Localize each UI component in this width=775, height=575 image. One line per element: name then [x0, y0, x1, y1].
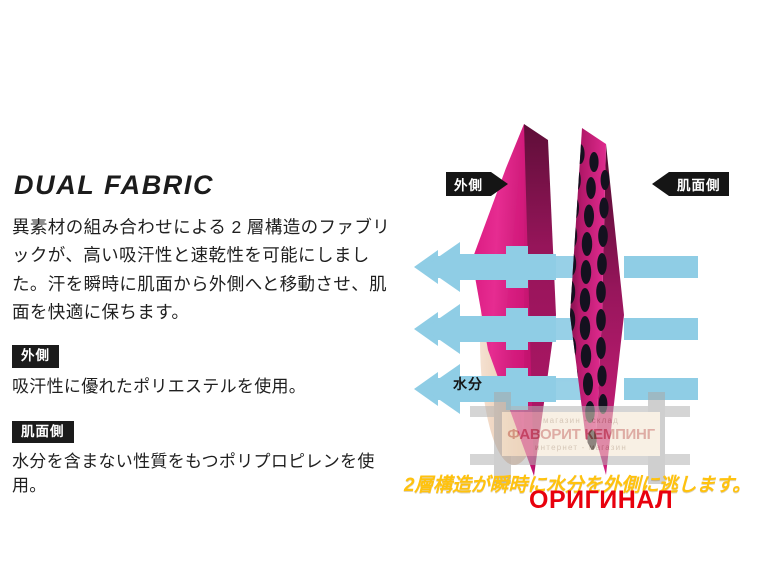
banner-skin-side: 肌面側 [652, 172, 729, 196]
banner-skin-label: 肌面側 [669, 172, 729, 196]
spec-skin-text: 水分を含まない性質をもつポリプロピレンを使用。 [12, 450, 407, 498]
banner-outer-side: 外側 [446, 172, 508, 196]
moisture-label: 水分 [453, 374, 483, 394]
banner-outer-label: 外側 [446, 172, 491, 196]
body-paragraph: 異素材の組み合わせによる 2 層構造のファブリックが、高い吸汗性と速乾性を可能に… [12, 213, 394, 326]
banner-skin-arrow-icon [652, 172, 669, 196]
spec-outer: 外側 吸汗性に優れたポリエステルを使用。 [12, 345, 407, 398]
page-root: DUAL FABRIC 異素材の組み合わせによる 2 層構造のファブリックが、高… [0, 0, 775, 575]
fabric-cross-section-diagram: 外側 肌面側 水分 [410, 110, 775, 510]
banner-outer-arrow-icon [491, 172, 508, 196]
description-panel: DUAL FABRIC 異素材の組み合わせによる 2 層構造のファブリックが、高… [12, 172, 407, 498]
moisture-arrows-left-clean [424, 242, 556, 414]
badge-outer: 外側 [12, 345, 59, 368]
original-stamp: ОРИГИНАЛ [529, 486, 673, 515]
spec-outer-text: 吸汗性に優れたポリエステルを使用。 [12, 375, 407, 399]
spec-skin: 肌面側 水分を含まない性質をもつポリプロピレンを使用。 [12, 421, 407, 498]
page-title: DUAL FABRIC [14, 172, 407, 199]
perforated-polypropylene-layer [565, 128, 624, 475]
moisture-arrow-tails-right [624, 256, 698, 400]
badge-skin: 肌面側 [12, 421, 74, 444]
